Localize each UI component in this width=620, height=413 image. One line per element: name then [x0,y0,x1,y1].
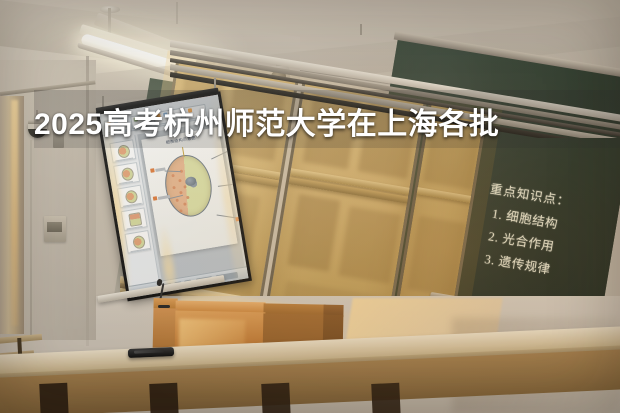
slide-thumbnail[interactable] [117,185,144,209]
curtain-light-streak [11,100,18,326]
slide-thumbnail[interactable] [113,162,140,186]
diagram-label [153,194,170,201]
wall-conduit [30,140,32,340]
cell-diagram-icon [161,151,217,220]
diagram-label [150,166,165,172]
page-title: 2025高考杭州师范大学在上海各批 [34,100,594,142]
light-switch[interactable] [47,222,62,232]
lamp-drop-rod [108,8,111,34]
slide-thumbnail[interactable] [125,230,152,254]
slide-thumbnail[interactable] [121,207,148,231]
rail-hook [360,24,362,35]
microphone-base [158,305,170,308]
classroom-photo: 细胞结构示意图 [0,0,620,413]
